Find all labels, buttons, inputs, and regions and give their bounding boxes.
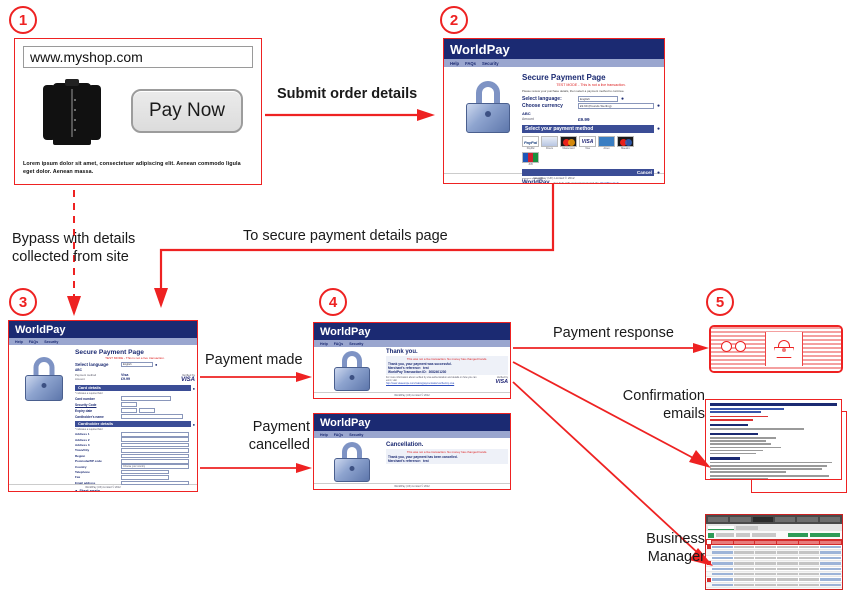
arrow-payment-cancelled — [200, 462, 312, 474]
method-help-icon[interactable]: ● — [657, 126, 660, 132]
business-manager-screenshot — [705, 514, 843, 590]
language-help-icon[interactable]: ● — [621, 96, 624, 102]
arrow-to-secure-payment-details-page — [138, 184, 568, 312]
worldpay-header: WorldPay — [444, 39, 664, 59]
maestro-icon[interactable]: Maestro — [617, 136, 634, 150]
step-number-4: 4 — [319, 288, 347, 316]
start-again-button[interactable]: Start again — [79, 488, 100, 492]
expiry-year-select[interactable] — [139, 408, 155, 413]
nav-help[interactable]: Help — [320, 342, 328, 346]
address1-label: Address 1 — [75, 432, 119, 436]
padlock-icon — [334, 442, 370, 482]
merchant-basket-panel — [765, 332, 803, 366]
bm-subtab-2[interactable] — [736, 526, 758, 530]
worldpay-copyright: WorldPay (UK) Limited © 2012 — [314, 483, 510, 488]
test-mode-notice: TEST MODE - This is not a live transacti… — [522, 83, 660, 87]
arrow-payment-response — [513, 341, 709, 355]
address2-input[interactable] — [121, 437, 189, 442]
start-again-icon[interactable]: ● — [75, 488, 77, 492]
language-select[interactable]: English — [121, 362, 153, 367]
nav-faqs[interactable]: FAQs — [334, 342, 343, 346]
amount-value: £9.99 — [578, 117, 590, 122]
shopping-basket-icon — [773, 340, 795, 358]
address2-label: Address 2 — [75, 438, 119, 442]
merchant-confirmation-screenshot — [709, 325, 843, 373]
card-details-page-screenshot: WorldPay Help FAQs Security Secure Payme… — [8, 320, 198, 492]
amount-label: Amount — [522, 117, 578, 122]
bm-tab-2[interactable] — [730, 517, 750, 522]
currency-help-icon[interactable]: ● — [657, 103, 660, 109]
transaction-id-value: 3082401230 — [429, 370, 447, 374]
thank-you-page-screenshot: WorldPay Help FAQs Security Thank you. T… — [313, 322, 511, 399]
worldpay-logo: WorldPay — [320, 417, 371, 429]
shopper-confirmation-email — [705, 399, 842, 480]
card-number-label: Card number — [75, 397, 119, 401]
payment-method-row-1: PayPal PayPal Diners Mastercard VISA — [522, 136, 660, 150]
step-number-3: 3 — [9, 288, 37, 316]
worldpay-nav: Help FAQs Security — [444, 59, 664, 67]
language-value: English — [580, 97, 590, 101]
bm-filter-2[interactable] — [736, 533, 750, 537]
verified-by-visa-badge: Verified by VISA — [181, 373, 195, 383]
label-submit-order-details: Submit order details — [277, 85, 427, 103]
language-select[interactable]: English — [578, 96, 618, 102]
secure-payment-page-screenshot: WorldPay Help FAQs Security Secure Payme… — [443, 38, 665, 184]
card-details-section-bar: Card details — [75, 385, 191, 391]
merchant-shop-screenshot: www.myshop.com Pay Now Lorem ipsum dolor… — [14, 38, 262, 185]
secure-page-heading: Secure Payment Page — [522, 73, 660, 82]
help-link[interactable]: WorldPay Help — [600, 181, 619, 184]
worldpay-copyright: WorldPay (UK) Limited © 2012 — [314, 392, 510, 397]
url-bar[interactable]: www.myshop.com — [23, 46, 253, 68]
mastercard-icon[interactable]: Mastercard — [560, 136, 577, 150]
cancel-bar[interactable]: Cancel — [522, 169, 654, 176]
nav-help[interactable]: Help — [320, 433, 328, 437]
worldpay-nav: Help FAQs Security — [314, 431, 510, 438]
cardholder-name-input[interactable] — [121, 414, 183, 419]
url-text: www.myshop.com — [30, 49, 143, 65]
business-manager-toolbar — [706, 531, 842, 539]
merchant-code: ABC — [522, 111, 660, 116]
nav-faqs[interactable]: FAQs — [465, 61, 476, 66]
card-number-input[interactable] — [121, 396, 171, 401]
email-label: Email address — [75, 481, 119, 485]
holder-help-icon[interactable]: ● — [193, 422, 195, 427]
nav-security[interactable]: Security — [349, 433, 363, 437]
test-mode-notice: This was not a live transaction. No mone… — [388, 450, 506, 454]
nav-security[interactable]: Security — [482, 61, 499, 66]
transactions-table-footer — [706, 588, 842, 590]
fax-label: Fax — [75, 475, 119, 479]
security-code-input[interactable] — [121, 402, 137, 407]
test-mode-notice: This was not a live transaction. No mone… — [388, 357, 506, 361]
bm-action-button-1[interactable] — [788, 533, 808, 538]
telephone-input[interactable] — [121, 470, 169, 475]
expiry-date-label: Expiry date — [75, 409, 119, 413]
language-label: Select language: — [522, 96, 578, 102]
language-help-icon[interactable]: ● — [155, 362, 157, 367]
bm-filter-3[interactable] — [752, 533, 776, 537]
merchant-ref-label: Merchant's reference: — [388, 459, 421, 463]
label-confirmation-emails: Confirmation emails — [570, 387, 705, 423]
thank-you-heading: Thank you. — [386, 349, 508, 355]
bm-action-button-2[interactable] — [810, 533, 840, 538]
bm-tab-4[interactable] — [775, 517, 795, 522]
step-number-1: 1 — [9, 6, 37, 34]
shop-body: Pay Now — [23, 77, 253, 152]
worldpay-header: WorldPay — [314, 414, 510, 431]
currency-select[interactable]: £9.99 (Pounds Sterling) — [578, 103, 654, 109]
product-jacket-image — [41, 77, 103, 149]
currency-value: £9.99 (Pounds Sterling) — [580, 104, 612, 108]
jcb-icon[interactable]: JCB — [522, 152, 539, 166]
paypal-icon[interactable]: PayPal PayPal — [522, 136, 539, 150]
bm-tab-5[interactable] — [797, 517, 817, 522]
arrow-submit-order-details — [265, 108, 435, 122]
merchant-logo-shapes — [721, 341, 746, 352]
town-city-input[interactable] — [121, 448, 189, 453]
label-business-manager: Business Manager — [570, 530, 705, 566]
visa-wordmark: VISA — [482, 379, 508, 385]
shop-blurb: Lorem ipsum dolor sit amet, consectetuer… — [23, 160, 253, 176]
label-payment-made: Payment made — [205, 351, 320, 369]
verified-by-visa-badge: Verified by VISA — [482, 376, 508, 385]
cardholder-name-label: Cardholder's name — [75, 415, 119, 419]
diners-icon[interactable]: Diners — [541, 136, 558, 150]
expiry-month-select[interactable] — [121, 408, 137, 413]
worldpay-logo: WorldPay — [320, 326, 371, 338]
maestro-label: Maestro — [617, 147, 634, 150]
transaction-id-label: WorldPay Transaction ID: — [388, 370, 427, 374]
cancellation-heading: Cancellation. — [386, 442, 508, 448]
arrow-payment-made — [200, 371, 312, 383]
town-city-label: Town/City — [75, 448, 119, 452]
country-label: Country — [75, 465, 119, 469]
cardholder-details-section-bar: Cardholder details — [75, 421, 191, 427]
label-payment-cancelled: Payment cancelled — [200, 418, 310, 454]
nav-help[interactable]: Help — [15, 340, 23, 344]
nav-faqs[interactable]: FAQs — [334, 433, 343, 437]
step-number-5: 5 — [706, 288, 734, 316]
worldpay-header: WorldPay — [9, 321, 197, 338]
nav-security[interactable]: Security — [349, 342, 363, 346]
diners-label: Diners — [541, 147, 558, 150]
bm-tab-transactions[interactable] — [753, 517, 773, 522]
padlock-icon — [466, 81, 510, 133]
payment-method-row-2: JCB — [522, 152, 660, 166]
address3-label: Address 3 — [75, 443, 119, 447]
required-note: * indicates a required field — [75, 392, 195, 395]
bm-filter-1[interactable] — [716, 533, 734, 537]
nav-security[interactable]: Security — [44, 340, 58, 344]
country-placeholder: Choose your country — [123, 465, 145, 468]
pay-now-label: Pay Now — [149, 100, 225, 122]
jcb-label: JCB — [522, 163, 539, 166]
step-number-2: 2 — [440, 6, 468, 34]
address1-input[interactable] — [121, 432, 189, 437]
merchant-ref-value: test — [423, 459, 429, 463]
padlock-icon — [334, 351, 370, 391]
payment-method-bar: Select your payment method — [522, 125, 654, 133]
secure-page-instruction: Please review your purchase details, the… — [522, 89, 660, 93]
currency-label: Choose currency — [522, 103, 578, 109]
amex-icon[interactable]: Amex — [598, 136, 615, 150]
card-page-heading: Secure Payment Page — [75, 349, 195, 356]
transactions-table-body — [706, 545, 842, 588]
label-bypass-with-details: Bypass with details collected from site — [12, 230, 172, 266]
amount-value: £9.99 — [121, 377, 130, 381]
visa-wordmark: VISA — [181, 377, 195, 383]
worldpay-nav: Help FAQs Security — [314, 340, 510, 347]
nav-help[interactable]: Help — [450, 61, 459, 66]
language-label: Select language — [75, 362, 121, 367]
fax-input[interactable] — [121, 475, 169, 480]
visa-icon[interactable]: VISA Visa — [579, 136, 596, 150]
worldpay-header: WorldPay — [314, 323, 510, 340]
postcode-input[interactable] — [121, 459, 189, 464]
amex-label: Amex — [598, 147, 615, 150]
amount-label: Amount — [75, 377, 121, 381]
cancel-help-icon[interactable]: ● — [657, 170, 660, 176]
card-help-icon[interactable]: ● — [193, 386, 195, 391]
cancellation-page-screenshot: WorldPay Help FAQs Security Cancellation… — [313, 413, 511, 490]
label-to-secure-payment-details-page: To secure payment details page — [243, 227, 543, 245]
worldpay-logo: WorldPay — [450, 42, 510, 57]
label-payment-response: Payment response — [553, 324, 723, 342]
business-manager-topnav — [706, 515, 842, 524]
mastercard-label: Mastercard — [560, 147, 577, 150]
worldpay-nav: Help FAQs Security — [9, 338, 197, 345]
business-manager-subnav — [706, 524, 842, 531]
language-value: English — [123, 363, 132, 366]
pay-now-button[interactable]: Pay Now — [131, 89, 243, 133]
padlock-icon — [25, 357, 63, 401]
worldpay-logo: WorldPay — [15, 324, 66, 336]
vbv-info-link[interactable]: http://www.visaeurope.com/makingpayments… — [386, 382, 482, 385]
required-note-2: * indicates a required field — [75, 428, 195, 431]
security-code-label: Security Code — [75, 403, 119, 407]
test-mode-notice: TEST MODE - This is not a live transacti… — [75, 356, 195, 360]
address3-input[interactable] — [121, 443, 189, 448]
region-input[interactable] — [121, 454, 189, 459]
country-select[interactable]: Choose your country — [121, 464, 189, 469]
email-input[interactable] — [121, 481, 189, 486]
nav-faqs[interactable]: FAQs — [29, 340, 38, 344]
bm-tab-6[interactable] — [820, 517, 840, 522]
postcode-label: Postcode/ZIP code — [75, 459, 119, 463]
telephone-label: Telephone — [75, 470, 119, 474]
region-label: Region — [75, 454, 119, 458]
merchant-code: ABC — [75, 368, 195, 372]
